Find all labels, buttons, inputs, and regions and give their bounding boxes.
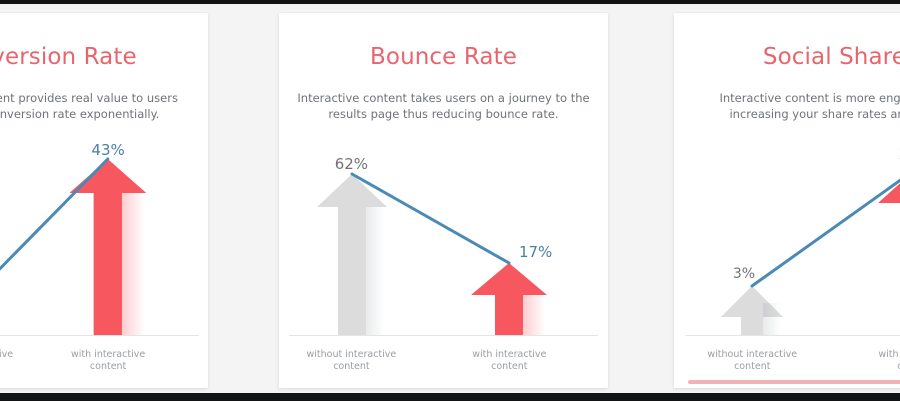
- trend-line: [752, 169, 900, 286]
- social-shares-axis-labels: without interactive content with interac…: [674, 349, 900, 381]
- axis-label-without-interactive: without interactive content: [291, 349, 411, 373]
- bar-arrow-with-interactive: [471, 263, 547, 335]
- card-subtitle: Interactive content is more engaging thu…: [692, 90, 900, 122]
- conversion-rate-chart: 43%: [0, 153, 208, 353]
- screen-bottom-edge: [0, 393, 900, 401]
- bar-arrow-without-interactive: [317, 174, 387, 335]
- value-label-with-interactive: 43%: [91, 141, 124, 159]
- card-accent-bar: [688, 380, 900, 384]
- axis-label-without-interactive: without interactive content: [0, 349, 28, 373]
- stat-card-conversion-rate[interactable]: Conversion Rate Interactive content prov…: [0, 13, 208, 388]
- value-label-without-interactive: 3%: [733, 266, 755, 282]
- axis-label-with-interactive: with interactive content: [449, 349, 569, 373]
- value-label-with-interactive: 17%: [519, 243, 552, 261]
- card-title: Bounce Rate: [279, 43, 608, 71]
- social-shares-chart: 3% 28%: [674, 153, 900, 353]
- conversion-rate-axis-labels: without interactive content with interac…: [0, 349, 208, 381]
- stat-card-bounce-rate[interactable]: Bounce Rate Interactive content takes us…: [279, 13, 608, 388]
- bounce-rate-axis-labels: without interactive content with interac…: [279, 349, 608, 381]
- card-title: Social Shares: [674, 43, 900, 71]
- stat-card-social-shares[interactable]: Social Shares Interactive content is mor…: [674, 13, 900, 388]
- card-subtitle: Interactive content provides real value …: [0, 90, 190, 122]
- bounce-rate-chart: 62% 17%: [279, 153, 608, 353]
- value-label-without-interactive: 62%: [335, 155, 368, 173]
- axis-label-with-interactive: with interactive content: [855, 349, 900, 373]
- axis-label-without-interactive: without interactive content: [692, 349, 812, 373]
- axis-label-with-interactive: with interactive content: [48, 349, 168, 373]
- bar-arrow-without-interactive: [721, 286, 783, 335]
- card-title: Conversion Rate: [0, 43, 208, 71]
- card-subtitle: Interactive content takes users on a jou…: [297, 90, 590, 122]
- stats-cards-section: Conversion Rate Interactive content prov…: [0, 4, 900, 393]
